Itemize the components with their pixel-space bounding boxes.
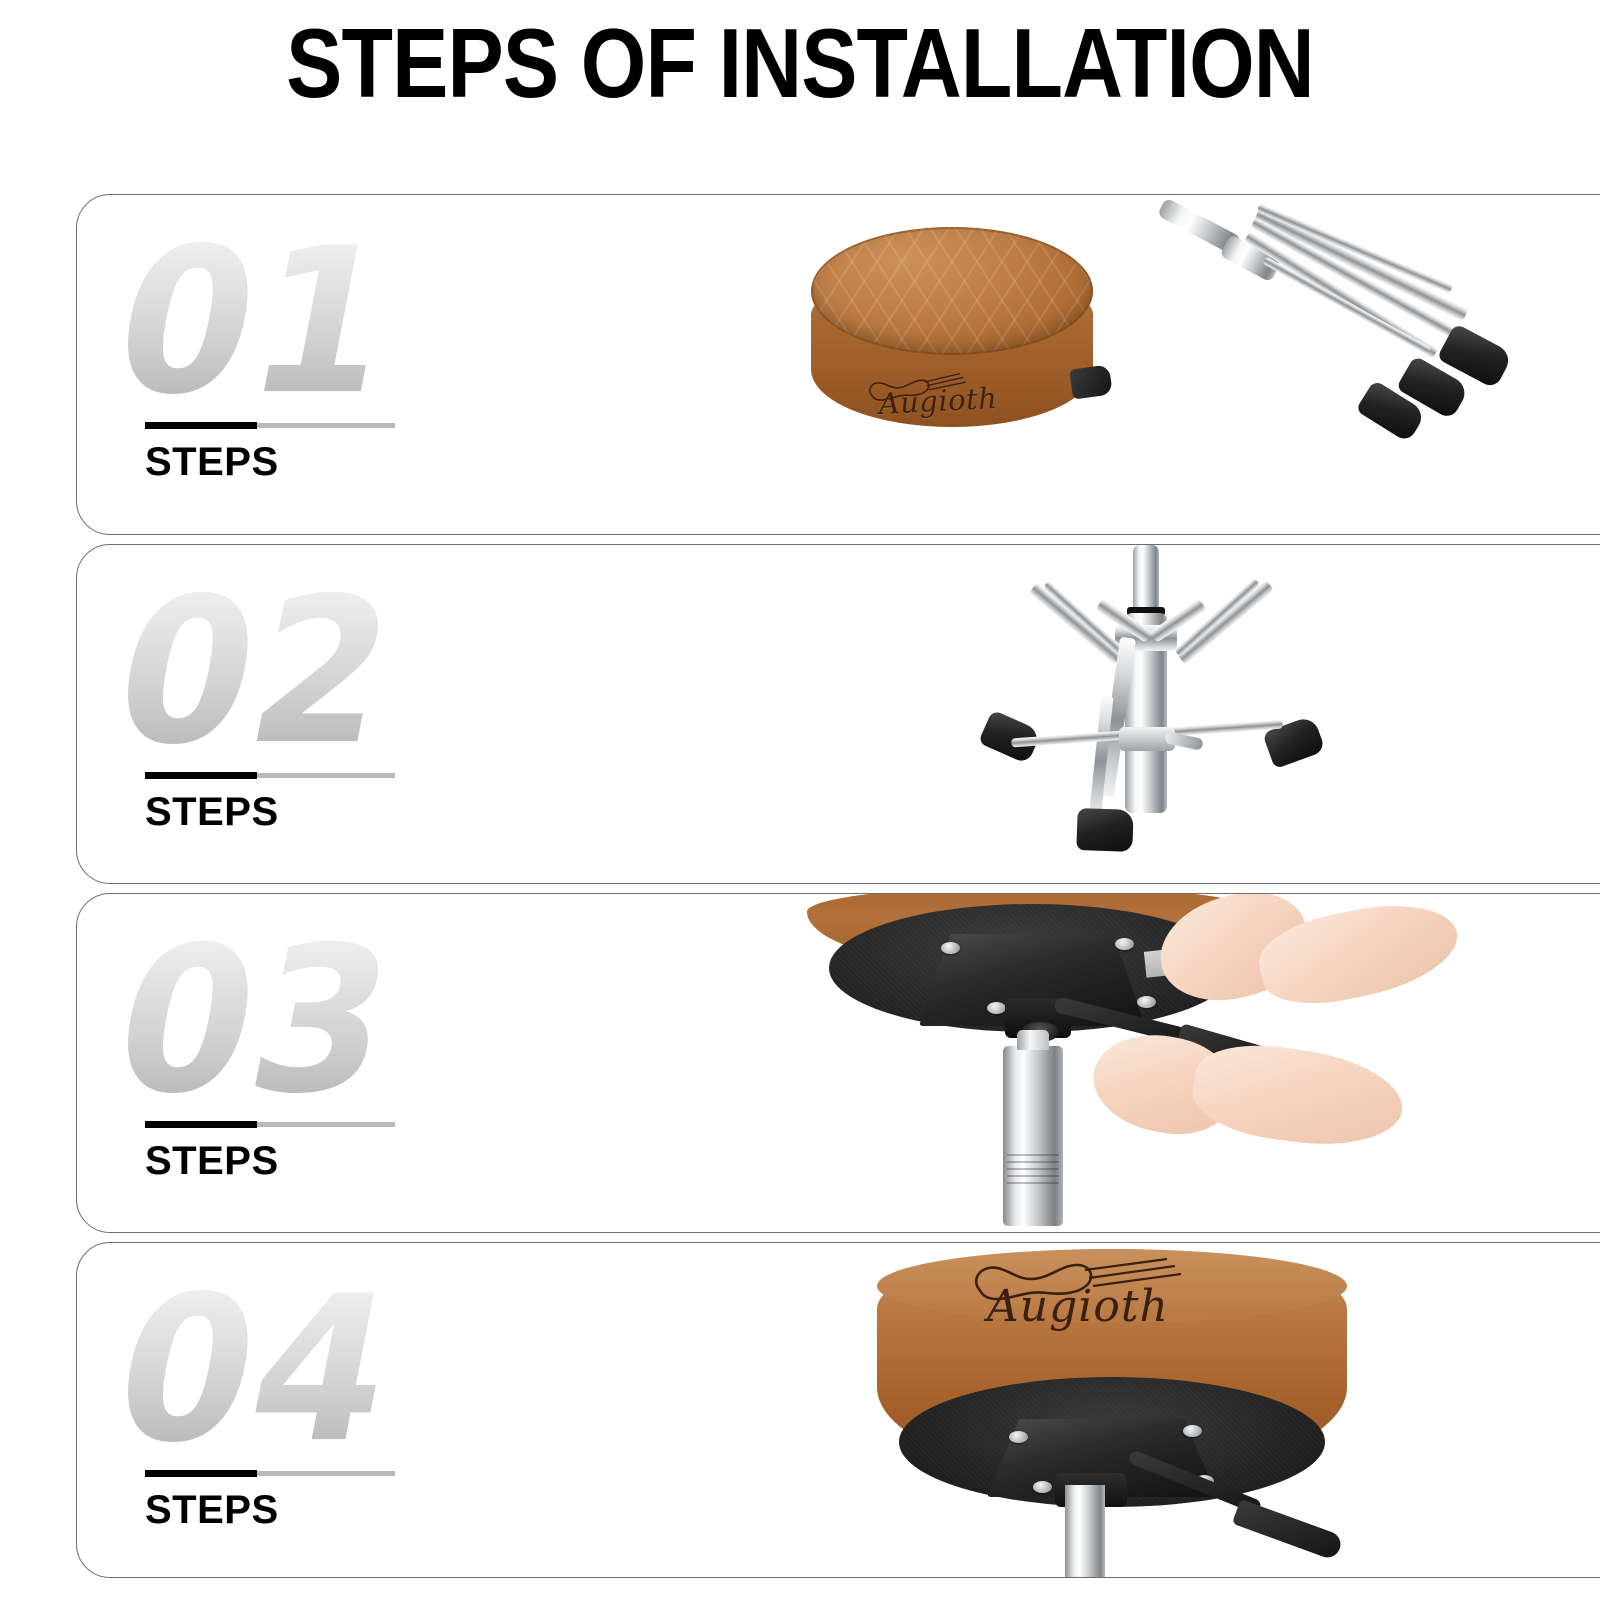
seat-quilted-top <box>811 227 1093 355</box>
rubber-foot-front <box>1076 808 1133 852</box>
step-badge-03: 03 STEPS <box>139 928 539 1184</box>
step-number-04: 04 <box>103 1277 539 1464</box>
step-badge-04: 04 STEPS <box>139 1277 539 1533</box>
mount-screw-3 <box>1033 1481 1052 1493</box>
folded-tripod-stand <box>1143 199 1512 461</box>
step-progress-rule-04 <box>145 1470 395 1477</box>
assembled-stool: Augioth <box>837 1249 1397 1577</box>
step-number-03: 03 <box>103 928 539 1115</box>
step-photo-03 <box>507 894 1600 1232</box>
rule-active-segment <box>145 772 257 779</box>
page-title: STEPS OF INSTALLATION <box>112 14 1488 112</box>
cylinder-spec-label <box>1007 1154 1059 1188</box>
step-label-01: STEPS <box>145 440 539 485</box>
upper-post <box>1133 545 1159 615</box>
step-progress-rule-03 <box>145 1121 395 1128</box>
step-label-02: STEPS <box>145 790 539 835</box>
gas-lift-cylinder <box>1003 1046 1063 1226</box>
mount-screw-4 <box>1137 996 1156 1008</box>
step-label-04: STEPS <box>145 1488 539 1533</box>
chrome-post <box>1065 1485 1105 1577</box>
seat-pull-tab <box>1069 364 1113 399</box>
forearm-lower <box>1188 1036 1409 1156</box>
step-badge-01: 01 STEPS <box>139 229 539 485</box>
step-number-01: 01 <box>103 229 539 416</box>
brand-wordmark: Augioth <box>878 379 1040 437</box>
mount-screw-3 <box>987 1002 1006 1014</box>
step-photo-01: Augioth <box>507 195 1600 534</box>
seat-to-cylinder-assembly <box>807 894 1507 1232</box>
step-card-03: 03 STEPS <box>76 893 1600 1233</box>
step-photo-04: Augioth <box>507 1243 1600 1577</box>
right-leg-lower <box>1177 580 1274 665</box>
mount-screw-2 <box>1115 938 1134 950</box>
step-card-04: 04 STEPS Augioth <box>76 1242 1600 1578</box>
rule-active-segment <box>145 422 257 429</box>
mount-screw-1 <box>1009 1431 1028 1443</box>
step-photo-02 <box>507 545 1600 883</box>
left-leg-lower <box>1029 583 1123 665</box>
mount-screw-2 <box>1183 1425 1202 1437</box>
height-adjust-lever-grip[interactable] <box>1232 1499 1344 1561</box>
step-progress-rule-01 <box>145 422 395 429</box>
brand-wordmark: Augioth <box>987 1281 1237 1337</box>
mount-screw-1 <box>941 942 960 954</box>
rule-active-segment <box>145 1121 257 1128</box>
step-badge-02: 02 STEPS <box>139 579 539 835</box>
cylinder-cap <box>1017 1030 1049 1050</box>
step-card-02: 02 STEPS <box>76 544 1600 884</box>
quilted-seat-cushion: Augioth <box>807 223 1097 453</box>
opened-tripod-base <box>937 545 1357 883</box>
rule-active-segment <box>145 1470 257 1477</box>
step-progress-rule-02 <box>145 772 395 779</box>
step-card-01: 01 STEPS Augioth <box>76 194 1600 535</box>
step-label-03: STEPS <box>145 1139 539 1184</box>
step-number-02: 02 <box>103 579 539 766</box>
